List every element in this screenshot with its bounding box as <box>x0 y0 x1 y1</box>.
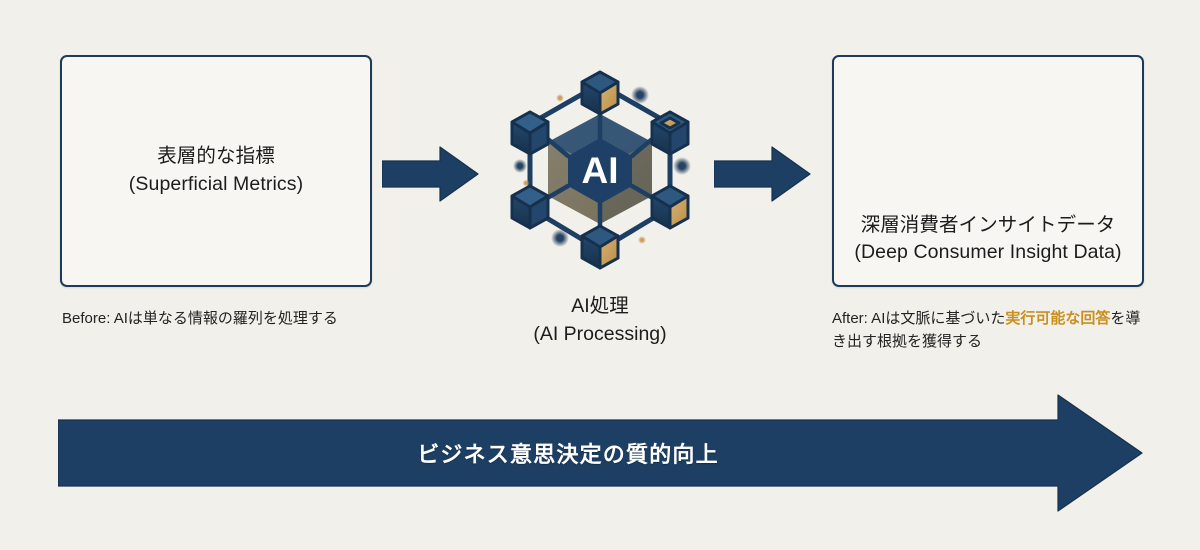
caption-before: Before: AIは単なる情報の羅列を処理する <box>62 308 392 331</box>
caption-after-highlight: 実行可能な回答 <box>1005 310 1110 327</box>
arrow-before-to-ai-icon <box>382 145 480 208</box>
before-box-label: 表層的な指標 (Superficial Metrics) <box>129 143 303 198</box>
caption-after-lead: After: AIは文脈に基づいた <box>832 310 1005 327</box>
caption-center: AI処理 (AI Processing) <box>440 292 760 349</box>
ai-badge-text: AI <box>582 150 619 191</box>
stage-box-after: 深層消費者インサイトデータ (Deep Consumer Insight Dat… <box>832 55 1144 287</box>
center-label-en: (AI Processing) <box>440 320 760 348</box>
after-box-title-en: (Deep Consumer Insight Data) <box>834 239 1142 267</box>
before-box-title-ja: 表層的な指標 <box>157 145 275 167</box>
after-box-label: 深層消費者インサイトデータ (Deep Consumer Insight Dat… <box>834 212 1142 267</box>
outcome-banner-arrow <box>58 392 1144 514</box>
ai-hexagon-network-icon: AI <box>492 68 708 272</box>
stage-box-before: 表層的な指標 (Superficial Metrics) <box>60 55 372 287</box>
arrow-ai-to-after-icon <box>714 145 812 208</box>
caption-after: After: AIは文脈に基づいた実行可能な回答を導き出す根拠を獲得する <box>832 308 1154 354</box>
center-label-ja: AI処理 <box>571 295 628 317</box>
before-box-title-en: (Superficial Metrics) <box>129 171 303 199</box>
diagram-canvas: 表層的な指標 (Superficial Metrics) Before: AIは… <box>0 0 1200 550</box>
after-box-title-ja: 深層消費者インサイトデータ <box>861 214 1116 236</box>
